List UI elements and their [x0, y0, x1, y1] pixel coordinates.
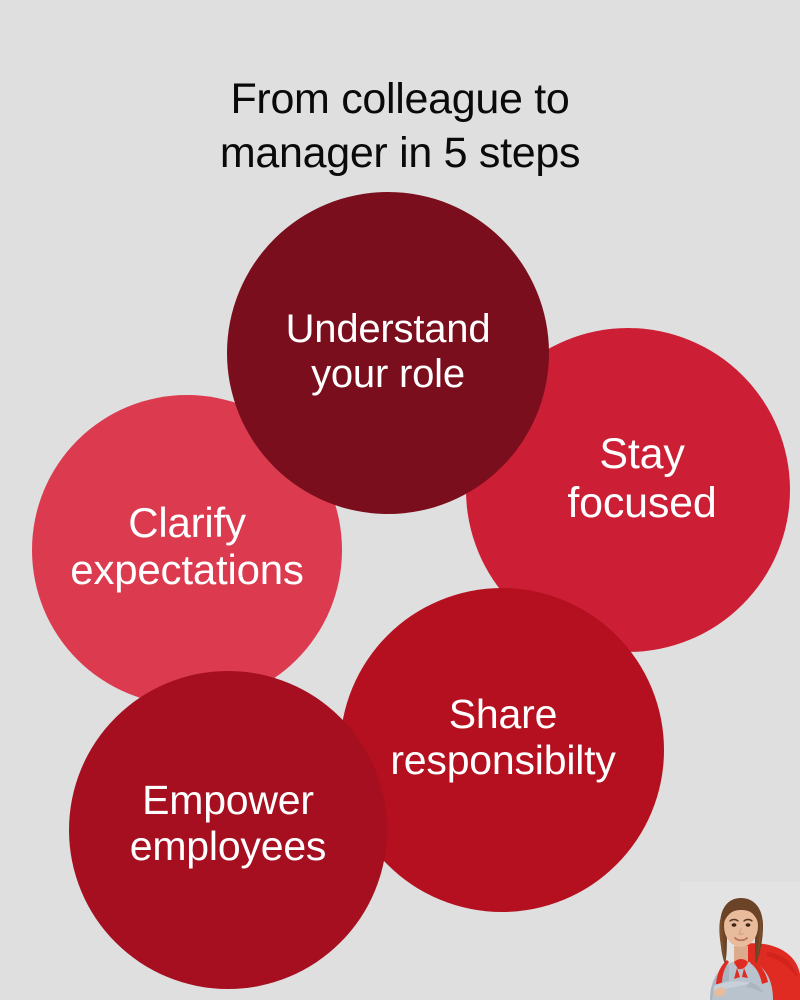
step-label-empower-employees: Empower employees — [124, 777, 332, 870]
page-title-line-1: From colleague to — [0, 73, 800, 127]
photo-woman-in-cape — [680, 882, 800, 1000]
step-label-share-responsibility: Share responsibilty — [384, 691, 621, 784]
infographic-canvas: From colleague to manager in 5 steps Sta… — [0, 0, 800, 1000]
step-label-understand-your-role: Understand your role — [280, 307, 497, 397]
photo-woman-in-cape-illustration — [680, 882, 800, 1000]
page-title: From colleague to manager in 5 steps — [0, 73, 800, 181]
step-label-stay-focused: Stay focused — [561, 430, 722, 527]
step-label-clarify-expectations: Clarify expectations — [64, 499, 309, 594]
page-title-line-2: manager in 5 steps — [0, 127, 800, 181]
step-circle-empower-employees[interactable]: Empower employees — [69, 671, 387, 989]
step-circle-understand-your-role[interactable]: Understand your role — [227, 192, 549, 514]
step-circle-share-responsibility[interactable]: Share responsibilty — [340, 588, 664, 912]
